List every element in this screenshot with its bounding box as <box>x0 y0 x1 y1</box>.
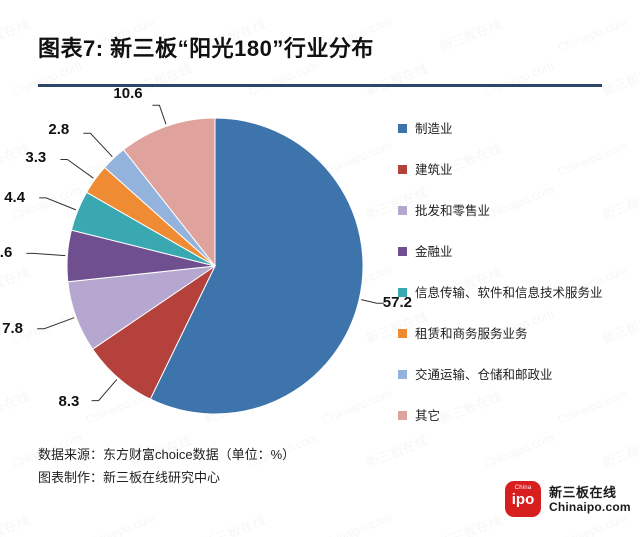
legend-item[interactable]: 租赁和商务服务业务 <box>398 313 638 354</box>
brand-name-en: Chinaipo.com <box>549 500 631 514</box>
pie-chart-svg <box>0 96 400 436</box>
pie-slice-value-label: 3.3 <box>25 149 46 166</box>
pie-slice-value-label: 5.6 <box>0 244 12 261</box>
legend-item[interactable]: 批发和零售业 <box>398 190 638 231</box>
pie-leader-line <box>60 160 93 179</box>
legend-color-swatch <box>398 288 407 297</box>
pie-leader-line <box>83 133 112 156</box>
legend-item[interactable]: 交通运输、仓储和邮政业 <box>398 354 638 395</box>
footnote-source: 数据来源：东方财富choice数据（单位：%） <box>38 443 458 466</box>
pie-leader-line <box>39 198 76 210</box>
legend-item[interactable]: 金融业 <box>398 231 638 272</box>
pie-leader-line <box>92 379 117 400</box>
legend-item[interactable]: 其它 <box>398 395 638 436</box>
legend-item[interactable]: 信息传输、软件和信息技术服务业 <box>398 272 638 313</box>
brand-logo: China ipo 新三板在线 Chinaipo.com <box>505 481 631 517</box>
brand-logo-text: 新三板在线 Chinaipo.com <box>549 485 631 514</box>
legend-item-label: 信息传输、软件和信息技术服务业 <box>415 286 603 300</box>
chinaipo-logo-icon: China ipo <box>505 481 541 517</box>
pie-chart: 57.28.37.85.64.43.32.810.6 <box>0 96 400 436</box>
chart-footnotes: 数据来源：东方财富choice数据（单位：%） 图表制作：新三板在线研究中心 <box>38 443 458 489</box>
pie-leader-line <box>26 253 65 255</box>
pie-slice-value-label: 4.4 <box>4 189 25 206</box>
chart-legend: 制造业建筑业批发和零售业金融业信息传输、软件和信息技术服务业租赁和商务服务业务交… <box>398 108 638 436</box>
page-title: 图表7: 新三板“阳光180”行业分布 <box>38 34 604 64</box>
legend-color-swatch <box>398 124 407 133</box>
legend-item-label: 金融业 <box>415 245 453 259</box>
legend-item[interactable]: 建筑业 <box>398 149 638 190</box>
legend-item-label: 交通运输、仓储和邮政业 <box>415 368 553 382</box>
legend-color-swatch <box>398 329 407 338</box>
legend-item-label: 建筑业 <box>415 163 453 177</box>
pie-slice-value-label: 8.3 <box>59 393 80 410</box>
pie-leader-line <box>37 318 74 329</box>
brand-name-cn: 新三板在线 <box>549 485 631 500</box>
pie-slice-value-label: 10.6 <box>113 85 142 102</box>
pie-slice-value-label: 7.8 <box>2 320 23 337</box>
legend-color-swatch <box>398 370 407 379</box>
legend-color-swatch <box>398 411 407 420</box>
pie-slice-value-label: 2.8 <box>48 121 69 138</box>
pie-leader-line <box>361 300 384 304</box>
legend-color-swatch <box>398 206 407 215</box>
legend-item-label: 批发和零售业 <box>415 204 490 218</box>
footnote-maker: 图表制作：新三板在线研究中心 <box>38 466 458 489</box>
legend-color-swatch <box>398 165 407 174</box>
legend-item-label: 其它 <box>415 409 440 423</box>
legend-item-label: 制造业 <box>415 122 453 136</box>
legend-item-label: 租赁和商务服务业务 <box>415 327 528 341</box>
chart-title: 图表7: 新三板“阳光180”行业分布 <box>38 34 604 64</box>
legend-item[interactable]: 制造业 <box>398 108 638 149</box>
pie-leader-line <box>152 105 166 124</box>
legend-color-swatch <box>398 247 407 256</box>
logo-mark-bottom-text: ipo <box>505 491 541 508</box>
